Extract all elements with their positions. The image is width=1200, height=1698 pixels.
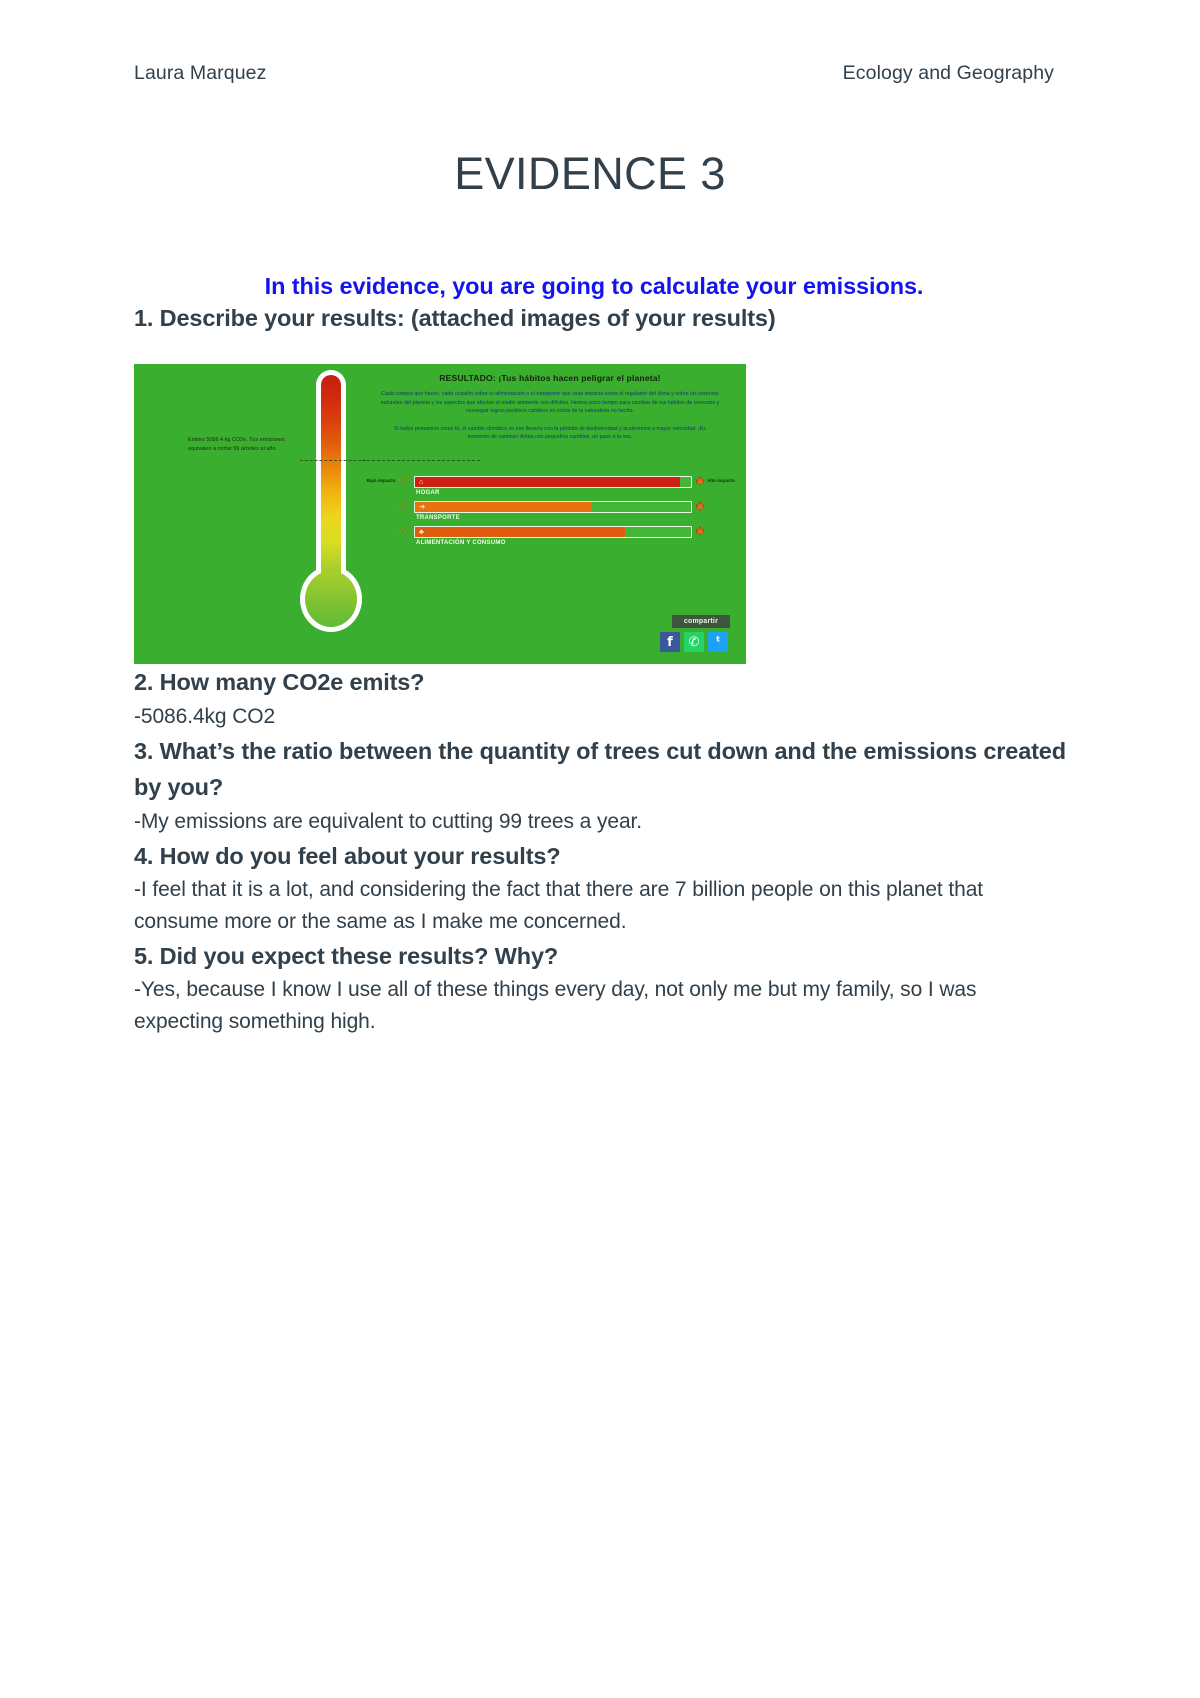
question-5-answer: -Yes, because I know I use all of these …	[134, 974, 1066, 1038]
bar-fill-hogar: ⌂	[415, 477, 680, 487]
carbon-calculator-screenshot: Emites 5086.4 kg CO2e. Tus emisiones equ…	[134, 364, 746, 664]
question-3-answer: -My emissions are equivalent to cutting …	[134, 806, 1066, 838]
bar-row-hogar: Bajo impacto 🌿 🍁 Alto impacto ⌂ HOGAR	[362, 476, 738, 501]
share-button[interactable]: compartir	[672, 615, 730, 628]
bar-fill-transporte: ➜	[415, 502, 592, 512]
thermometer-graphic	[300, 370, 362, 638]
leaf-icon-high-2: 🍁	[695, 502, 706, 511]
emissions-annotation: Emites 5086.4 kg CO2e. Tus emisiones equ…	[188, 436, 300, 454]
question-5-heading: 5. Did you expect these results? Why?	[134, 938, 1066, 974]
course-name: Ecology and Geography	[843, 62, 1054, 85]
category-bars: Bajo impacto 🌿 🍁 Alto impacto ⌂ HOGAR	[362, 476, 738, 551]
facebook-icon[interactable]: f	[660, 632, 680, 652]
question-1-heading: 1. Describe your results: (attached imag…	[134, 300, 1066, 336]
document-subtitle: In this evidence, you are going to calcu…	[134, 273, 1054, 300]
result-paragraph-2: Si todos pensamos como tú, el cambio cli…	[384, 425, 716, 442]
question-4-answer: -I feel that it is a lot, and considerin…	[134, 874, 1066, 938]
bar-track-hogar: ⌂	[414, 476, 692, 488]
bar-label-transporte: TRANSPORTE	[416, 515, 460, 521]
home-icon: ⌂	[419, 478, 424, 486]
social-share-row: f ✆ ᵗ	[660, 632, 728, 652]
result-paragraph-1: Cada compra que haces, cada ocasión sobr…	[376, 390, 724, 415]
question-2-heading: 2. How many CO2e emits?	[134, 664, 1066, 700]
document-page: Laura Marquez Ecology and Geography EVID…	[0, 0, 1200, 1698]
leaf-icon-high-3: 🍁	[695, 527, 706, 536]
bar-row-transporte: 🌿 🍁 ➜ TRANSPORTE	[362, 501, 738, 526]
whatsapp-icon[interactable]: ✆	[684, 632, 704, 652]
question-2-answer: -5086.4kg CO2	[134, 701, 1066, 733]
leaf-icon-low-3: 🌿	[398, 527, 409, 536]
leaf-icon-low: 🌿	[398, 477, 409, 486]
thermometer-stem-fill	[321, 375, 341, 590]
question-3-heading: 3. What’s the ratio between the quantity…	[134, 733, 1066, 806]
page-title: EVIDENCE 3	[134, 148, 1046, 200]
bar-label-hogar: HOGAR	[416, 490, 440, 496]
student-name: Laura Marquez	[134, 62, 266, 85]
bar-label-alimentacion: ALIMENTACIÓN Y CONSUMO	[416, 540, 506, 546]
twitter-icon[interactable]: ᵗ	[708, 632, 728, 652]
result-title: RESULTADO: ¡Tus hábitos hacen peligrar e…	[362, 373, 738, 383]
leaf-icon-low-2: 🌿	[398, 502, 409, 511]
bar-track-alimentacion: ♣	[414, 526, 692, 538]
document-header: Laura Marquez Ecology and Geography	[134, 62, 1066, 85]
bar-track-transporte: ➜	[414, 501, 692, 513]
question-4-heading: 4. How do you feel about your results?	[134, 838, 1066, 874]
high-impact-label: Alto impacto	[706, 478, 736, 485]
bar-fill-alimentacion: ♣	[415, 527, 625, 537]
food-icon: ♣	[419, 528, 424, 536]
leaf-icon-high: 🍁	[695, 477, 706, 486]
attached-result-image: Emites 5086.4 kg CO2e. Tus emisiones equ…	[134, 364, 746, 664]
document-content: Laura Marquez Ecology and Geography EVID…	[134, 0, 1066, 1038]
annotation-leader-line	[300, 460, 366, 461]
transport-icon: ➜	[419, 503, 425, 511]
low-impact-label: Bajo impacto	[366, 478, 396, 485]
bar-row-alimentacion: 🌿 🍁 ♣ ALIMENTACIÓN Y CONSUMO	[362, 526, 738, 551]
